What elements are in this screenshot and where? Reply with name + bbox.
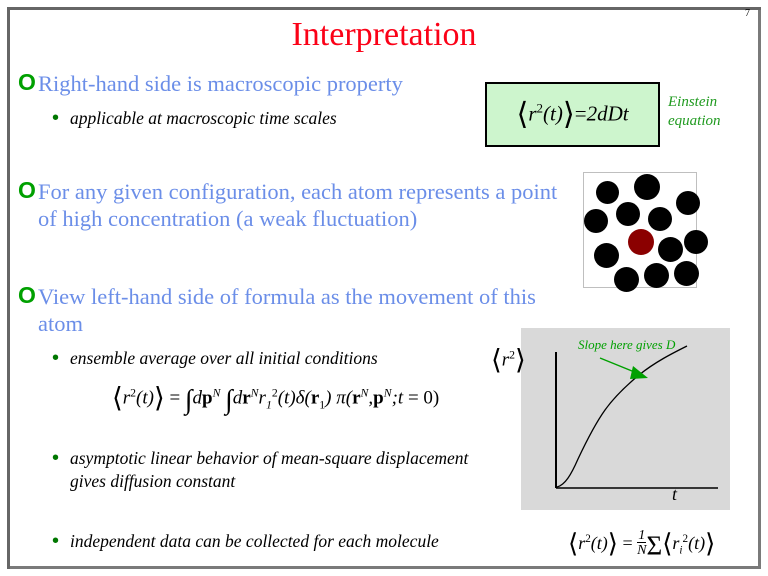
einstein-equation-label: Einstein equation [668,93,721,131]
bullet-text-3: View left-hand side of formula as the mo… [38,283,548,337]
last-exp: 2 [585,533,591,545]
angle-open-icon: ⟨ [491,344,502,375]
ring-bullet-icon: O [18,283,38,307]
msd-graph-svg [515,328,740,518]
bullet-item-2: O For any given configuration, each atom… [18,178,578,232]
dot-bullet-icon: • [52,447,70,469]
einstein-label-line1: Einstein [668,93,721,112]
formula-r1: r [259,388,266,409]
sub-bullet-3-1: • ensemble average over all initial cond… [52,347,492,370]
slide-frame-top [7,7,761,10]
graph-annotation-arrow-line [600,358,637,373]
atom [614,267,639,292]
angle-close-icon: ⟩ [563,97,575,131]
formula-arg: (t) [136,388,154,409]
atom [676,191,700,215]
ensemble-average-formula: ⟨r2(t)⟩ = ∫dpN ∫drNr12(t)δ(r1) π(rN,pN;t… [112,382,439,416]
einstein-equation: ⟨r2(t)⟩=2dDt [516,97,628,132]
sub-bullet-text-3-3: independent data can be collected for ea… [70,530,439,553]
einstein-equals: = [575,101,587,125]
sub-bullet-text-1-1: applicable at macroscopic time scales [70,107,337,130]
einstein-lhs-var: r [528,101,536,125]
bullet-text-1: Right-hand side is macroscopic property [38,70,403,97]
sub-bullet-1-1: • applicable at macroscopic time scales [52,107,472,130]
integral-icon: ∫ [185,384,193,415]
einstein-lhs-arg: (t) [543,101,563,125]
atom [648,207,672,231]
atom [684,230,708,254]
last-sub: i [679,545,682,557]
summation-icon: Σ [646,530,662,560]
bullet-item-3: O View left-hand side of formula as the … [18,283,548,337]
formula-pi-r: r [352,388,360,409]
sub-bullet-text-3-2: asymptotic linear behavior of mean-squar… [70,447,482,493]
slide-frame-bottom [10,566,761,569]
formula-equals: = [165,388,185,409]
formula-t0-eq: = 0) [403,388,439,409]
delta-icon: δ( [296,388,311,409]
einstein-rhs: 2dDt [587,101,629,125]
angle-close-icon: ⟩ [154,382,165,413]
atom [658,237,683,262]
atom-configuration-diagram [583,172,697,288]
formula-rN: N [251,386,259,399]
graph-x-axis-label: t [672,484,677,505]
formula-r: r [242,388,250,409]
formula-pN: N [213,386,221,399]
slide-frame-left [7,7,10,569]
atom [596,181,619,204]
ring-bullet-icon: O [18,178,38,202]
sub-bullet-text-3-1: ensemble average over all initial condit… [70,347,378,370]
atom [594,243,619,268]
bullet-item-1: O Right-hand side is macroscopic propert… [18,70,488,97]
sub-bullet-3-3: • independent data can be collected for … [52,530,572,553]
atom [616,202,640,226]
last-equals: = [618,533,637,553]
slide-frame-right [758,10,761,569]
angle-close-icon: ⟩ [705,529,715,558]
last-exp2: 2 [683,533,689,545]
dot-bullet-icon: • [52,530,70,552]
angle-open-icon: ⟨ [662,529,672,558]
integral-icon: ∫ [225,384,233,415]
formula-r1-sub: 1 [266,399,272,412]
ring-bullet-icon: O [18,70,38,94]
formula-dr: d [233,388,243,409]
dot-bullet-icon: • [52,347,70,369]
bullet-text-2: For any given configuration, each atom r… [38,178,578,232]
atom [634,174,660,200]
tagged-atom [628,229,654,255]
angle-open-icon: ⟨ [568,529,578,558]
sub-bullet-3-2: • asymptotic linear behavior of mean-squ… [52,447,482,493]
formula-pi-p: p [373,388,384,409]
formula-delta-close: ) [325,388,331,409]
slide-canvas: 7 Interpretation O Right-hand side is ma… [0,0,768,576]
graph-annotation-arrow-head [630,366,648,379]
pi-icon: π( [336,388,352,409]
formula-pi-pN: N [384,386,392,399]
einstein-label-line2: equation [668,112,721,131]
atom [584,209,608,233]
angle-open-icon: ⟨ [112,382,123,413]
atom [674,261,699,286]
per-molecule-average-formula: ⟨r2(t)⟩ = 1NΣ⟨ri2(t)⟩ [568,528,715,561]
angle-open-icon: ⟨ [516,97,528,131]
page-title: Interpretation [0,16,768,54]
formula-t0: ;t [392,388,404,409]
dot-bullet-icon: • [52,107,70,129]
angle-close-icon: ⟩ [608,529,618,558]
atom [644,263,669,288]
einstein-equation-box: ⟨r2(t)⟩=2dDt [485,82,660,147]
formula-dp: d [193,388,203,409]
formula-delta-r: r [311,388,319,409]
formula-p: p [202,388,213,409]
formula-t: (t) [278,388,296,409]
